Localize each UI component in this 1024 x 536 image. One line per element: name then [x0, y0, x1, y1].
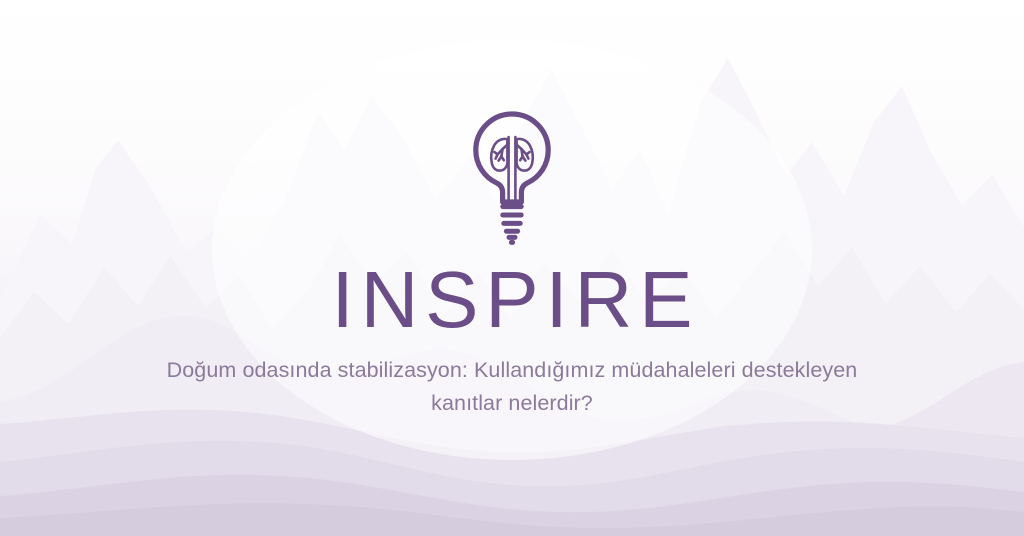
subtitle-line-2: kanıtlar nelerdir? [82, 387, 942, 420]
slide-content: INSPIRE Doğum odasında stabilizasyon: Ku… [0, 0, 1024, 536]
wordmark-inspire: INSPIRE [325, 262, 699, 338]
bulb-base [503, 207, 521, 243]
lightbulb-lungs-icon [464, 110, 560, 246]
inspire-title-slide: INSPIRE Doğum odasında stabilizasyon: Ku… [0, 0, 1024, 536]
subtitle-line-1: Doğum odasında stabilizasyon: Kullandığı… [82, 354, 942, 387]
lungs-glyph [491, 137, 533, 202]
subtitle: Doğum odasında stabilizasyon: Kullandığı… [82, 354, 942, 419]
